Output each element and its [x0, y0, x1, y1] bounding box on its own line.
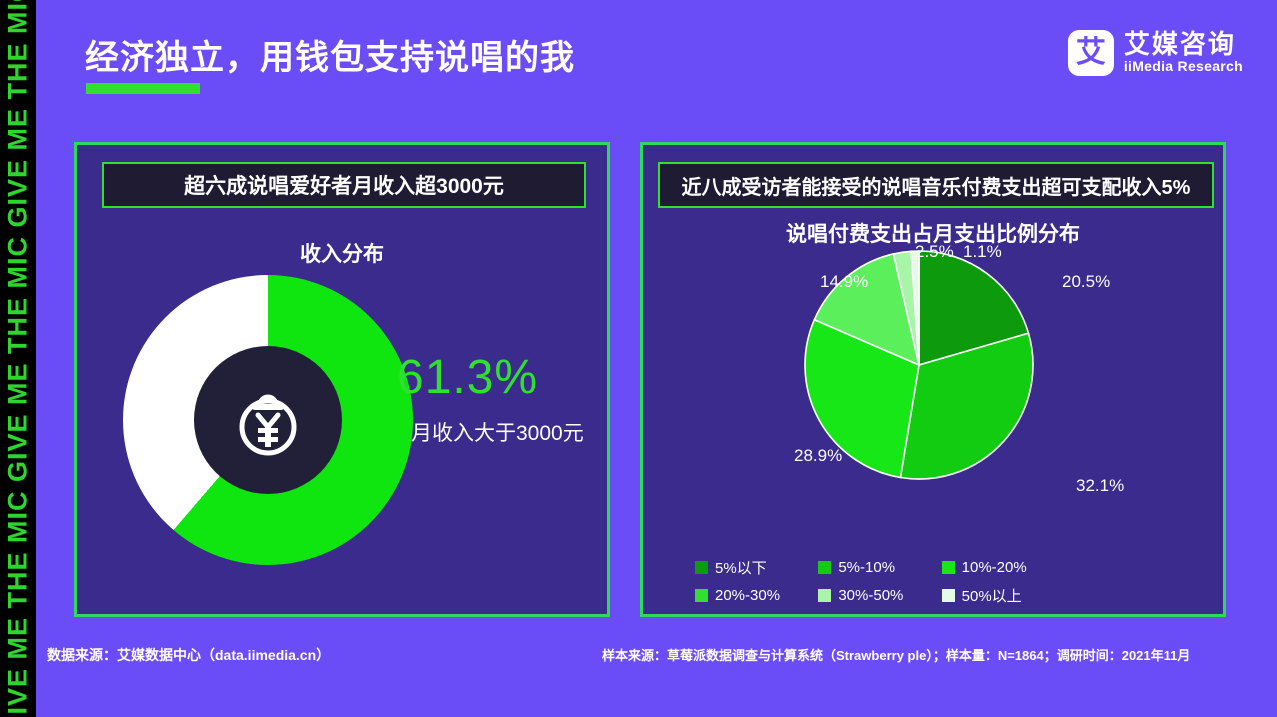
- legend-item[interactable]: 5%-10%: [818, 557, 941, 578]
- brand-logo: 艾 艾媒咨询 iiMedia Research: [1068, 30, 1243, 76]
- slide-root: GIVE ME THE MIC GIVE ME THE MIC GIVE ME …: [0, 0, 1277, 717]
- pie-slice-label: 28.9%: [794, 446, 842, 466]
- logo-name-cn: 艾媒咨询: [1124, 31, 1243, 58]
- legend-item[interactable]: 20%-30%: [695, 585, 818, 606]
- right-panel-headline: 近八成受访者能接受的说唱音乐付费支出超可支配收入5%: [658, 162, 1214, 208]
- legend-swatch-icon: [818, 589, 831, 602]
- legend-item[interactable]: 50%以上: [942, 585, 1065, 606]
- legend-swatch-icon: [942, 589, 955, 602]
- donut-percent-label: 61.3%: [397, 350, 538, 405]
- legend-label: 10%-20%: [962, 559, 1027, 576]
- legend-label: 5%以下: [715, 557, 767, 578]
- legend-label: 5%-10%: [838, 559, 895, 576]
- logo-mark-icon: 艾: [1068, 30, 1114, 76]
- left-panel-headline: 超六成说唱爱好者月收入超3000元: [102, 162, 586, 208]
- legend-label: 50%以上: [962, 585, 1022, 606]
- spending-pie-chart: 20.5%32.1%28.9%14.9%2.5%1.1%: [804, 250, 1034, 480]
- left-panel-subtitle: 收入分布: [77, 238, 607, 268]
- right-chart-panel: 近八成受访者能接受的说唱音乐付费支出超可支配收入5% 说唱付费支出占月支出比例分…: [640, 142, 1226, 617]
- legend-label: 20%-30%: [715, 587, 780, 604]
- donut-center: [194, 346, 342, 494]
- pie-slice-label: 20.5%: [1062, 272, 1110, 292]
- pie-legend: 5%以下5%-10%10%-20%20%-30%30%-50%50%以上: [695, 557, 1065, 606]
- legend-label: 30%-50%: [838, 587, 903, 604]
- pie-slice-label: 32.1%: [1076, 476, 1124, 496]
- footer-source-left: 数据来源：艾媒数据中心（data.iimedia.cn）: [47, 645, 330, 665]
- donut-caption: 月收入大于3000元: [411, 417, 584, 447]
- legend-swatch-icon: [942, 561, 955, 574]
- legend-item[interactable]: 5%以下: [695, 557, 818, 578]
- legend-swatch-icon: [695, 589, 708, 602]
- legend-item[interactable]: 30%-50%: [818, 585, 941, 606]
- side-strip: GIVE ME THE MIC GIVE ME THE MIC GIVE ME …: [0, 0, 36, 717]
- legend-item[interactable]: 10%-20%: [942, 557, 1065, 578]
- legend-swatch-icon: [818, 561, 831, 574]
- logo-text: 艾媒咨询 iiMedia Research: [1124, 31, 1243, 75]
- pie-slice-label: 2.5%: [915, 242, 954, 262]
- money-bag-yuan-icon: [231, 379, 305, 461]
- pie-slice-label: 14.9%: [820, 272, 868, 292]
- logo-name-en: iiMedia Research: [1124, 58, 1243, 75]
- pie-slice-label: 1.1%: [963, 242, 1002, 262]
- footer-source-right: 样本来源：草莓派数据调查与计算系统（Strawberry ple）；样本量：N=…: [602, 645, 1190, 664]
- page-title: 经济独立，用钱包支持说唱的我: [85, 30, 575, 79]
- title-underline: [86, 83, 200, 94]
- legend-swatch-icon: [695, 561, 708, 574]
- side-strip-text: GIVE ME THE MIC GIVE ME THE MIC GIVE ME …: [3, 0, 34, 717]
- income-donut-chart: [123, 275, 413, 565]
- left-chart-panel: 超六成说唱爱好者月收入超3000元 收入分布 61.3% 月收入大于3000元: [74, 142, 610, 617]
